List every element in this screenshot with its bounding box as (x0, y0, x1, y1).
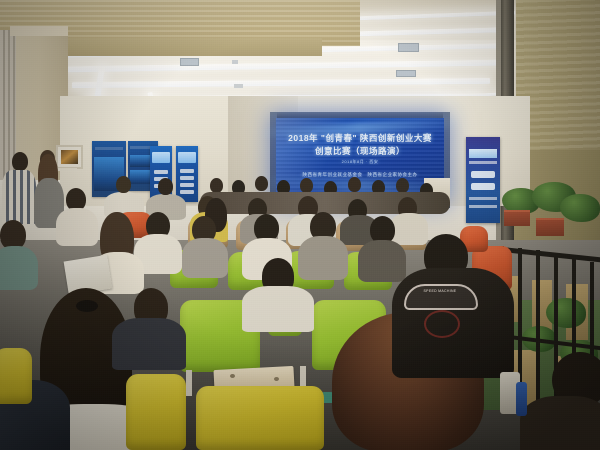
rollup-text-row (180, 190, 194, 194)
standing-person-head (12, 152, 28, 171)
shirt-print-logo-red (424, 310, 460, 338)
attendee-body-teal (0, 246, 38, 290)
rollup-text-row (154, 170, 168, 174)
chair-yellow-front-left (0, 348, 32, 404)
shirt-print-arc (404, 284, 478, 310)
attendee-body-white (390, 213, 428, 245)
plant-foliage-4 (546, 298, 586, 328)
screen-title-line-1: 2018年 "创青春" 陕西创新创业大赛 (276, 132, 444, 144)
artwork-canvas (61, 150, 78, 164)
attendee-body-grey (182, 238, 228, 278)
rollup-header-block (152, 152, 170, 163)
standing-person-body-stripe (2, 170, 36, 224)
attendee-head (255, 176, 268, 191)
ceiling-air-vent-1 (180, 58, 199, 66)
railing-post (536, 250, 540, 400)
right-banner-footer-2 (469, 205, 496, 208)
front-attendee-body-far-right (520, 396, 600, 450)
right-banner-header-block (469, 149, 496, 158)
plant-pot-2 (536, 218, 564, 236)
tablet-bolt-right (274, 377, 279, 381)
bottle-blue (516, 382, 527, 416)
conference-hall-photo: 2018年 "创青春" 陕西创新创业大赛 创意比赛（现场路演） 2018年8月 … (0, 0, 600, 450)
attendee-head (210, 178, 223, 193)
banner-right-purple (466, 137, 500, 223)
poster-heading-bar (95, 147, 124, 150)
right-banner-footer-1 (469, 197, 496, 200)
ceiling-air-vent-2 (232, 60, 238, 64)
chair-yellow-front (196, 386, 324, 450)
right-banner-subtext (469, 161, 496, 164)
rollup-banner-right (176, 146, 198, 202)
railing-handrail-top (498, 246, 600, 263)
ceiling-air-vent-5 (234, 84, 243, 88)
framed-artwork (56, 145, 83, 169)
chair-yellow-side (126, 374, 186, 450)
rollup-text-row (180, 169, 194, 173)
attendee-head (116, 176, 131, 193)
rollup-text-row (180, 176, 194, 180)
attendee-head (158, 178, 173, 195)
right-banner-pill-1 (471, 171, 495, 178)
attendee-head (300, 178, 313, 193)
ceiling-air-vent-4 (396, 70, 416, 77)
chair-leg (186, 370, 192, 396)
plant-foliage-3 (560, 194, 600, 222)
screen-title-line-2: 创意比赛（现场路演） (276, 145, 444, 157)
pillar-capital (10, 26, 68, 36)
screen-date-line: 2018年8月 · 西安 (276, 159, 444, 165)
attendee-body-mid-left (112, 318, 186, 370)
attendee-body-dark (358, 240, 406, 282)
attendee-head (348, 177, 361, 192)
tablet-bolt-left (230, 374, 235, 378)
attendee-body-grey (298, 236, 348, 280)
ceiling-air-vent-3 (398, 43, 419, 52)
plant-pot-1 (504, 210, 530, 226)
front-attendee-hair-tie (76, 300, 98, 312)
right-banner-pill-2 (471, 183, 495, 190)
attendee-head (396, 178, 409, 193)
rollup-header-block (178, 152, 196, 163)
shirt-print-text: SPEED MACHINE (409, 289, 471, 293)
wall-plaque (57, 168, 77, 171)
rollup-text-row (180, 183, 194, 187)
railing-post (518, 248, 522, 388)
screen-organizer-line: 陕西省青年创业就业基金会 陕西省企业家协会主办 (276, 172, 444, 178)
attendee-body-mid-center (242, 286, 314, 332)
attendee-body-white (56, 208, 98, 246)
